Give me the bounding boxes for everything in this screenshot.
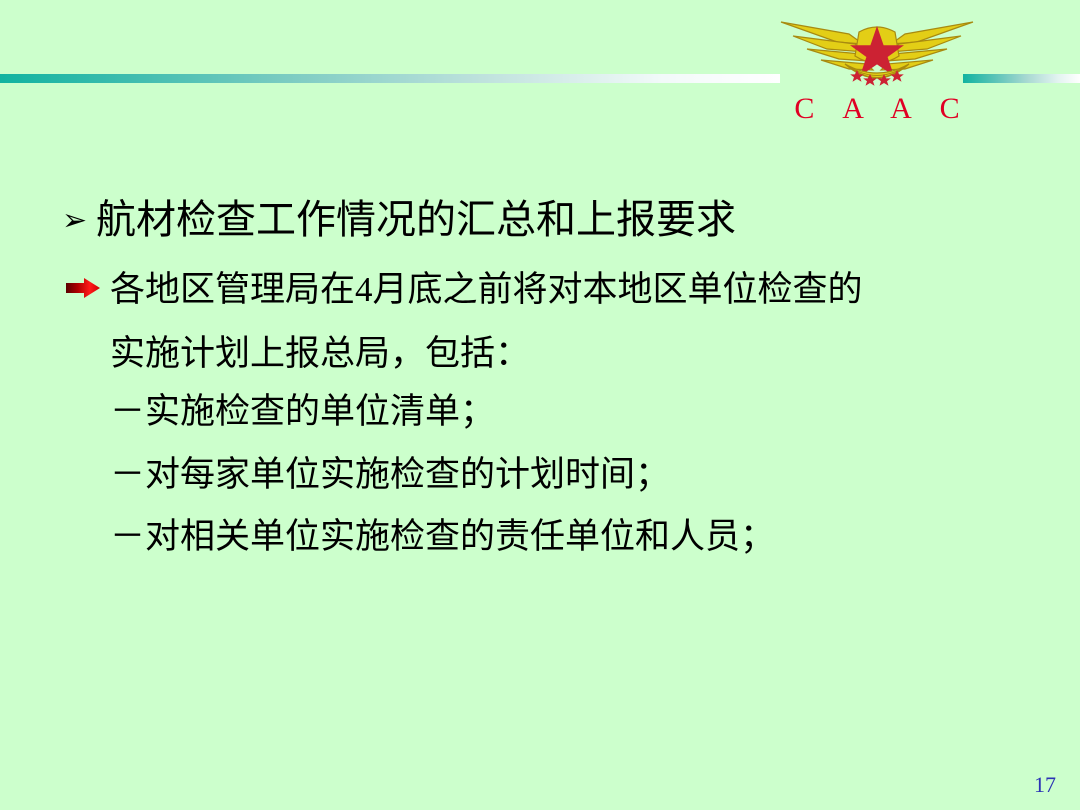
presentation-slide: C A A C ➢航材检查工作情况的汇总和上报要求 <box>0 0 1080 810</box>
caac-emblem-icon <box>777 8 977 90</box>
divider-rule-left <box>0 74 780 83</box>
caac-logo-block: C A A C <box>752 8 1002 138</box>
caac-brand-text: C A A C <box>752 92 1002 126</box>
sub-item-1: －实施检查的单位清单； <box>110 383 495 434</box>
slide-title: ➢航材检查工作情况的汇总和上报要求 <box>62 196 736 245</box>
divider-rule-right <box>963 74 1080 83</box>
slide-title-text: 航材检查工作情况的汇总和上报要求 <box>96 197 736 242</box>
body-paragraph-line-1: 各地区管理局在4月底之前将对本地区单位检查的 <box>64 266 863 312</box>
arrowhead-bullet-icon: ➢ <box>62 197 96 245</box>
red-arrow-bullet-icon <box>64 266 110 288</box>
page-number: 17 <box>1034 772 1056 798</box>
body-text-line-1: 各地区管理局在4月底之前将对本地区单位检查的 <box>110 270 863 309</box>
body-paragraph-line-2: 实施计划上报总局，包括： <box>110 325 530 376</box>
sub-item-3: －对相关单位实施检查的责任单位和人员； <box>110 508 775 559</box>
sub-item-2: －对每家单位实施检查的计划时间； <box>110 446 670 497</box>
